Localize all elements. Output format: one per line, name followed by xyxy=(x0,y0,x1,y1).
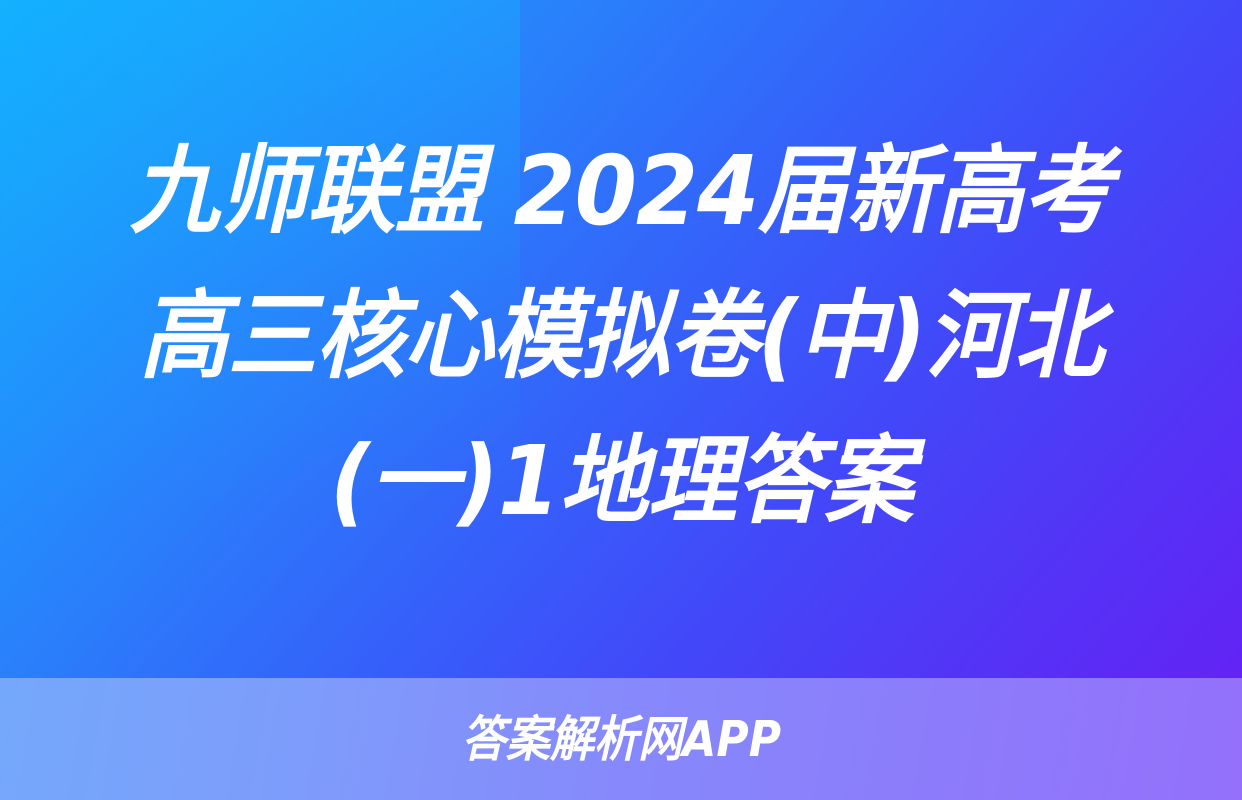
title-line-3: (一)1地理答案 xyxy=(330,409,913,554)
title-line-1: 九师联盟 2024届新高考 xyxy=(130,119,1112,264)
footer-brand-label: 答案解析网APP xyxy=(461,715,780,764)
cover-card: 九师联盟 2024届新高考 高三核心模拟卷(中)河北 (一)1地理答案 答案解析… xyxy=(0,0,1242,800)
title-line-2: 高三核心模拟卷(中)河北 xyxy=(139,264,1102,409)
page-title: 九师联盟 2024届新高考 高三核心模拟卷(中)河北 (一)1地理答案 xyxy=(0,0,1242,678)
footer-brand-band: 答案解析网APP xyxy=(0,678,1242,800)
